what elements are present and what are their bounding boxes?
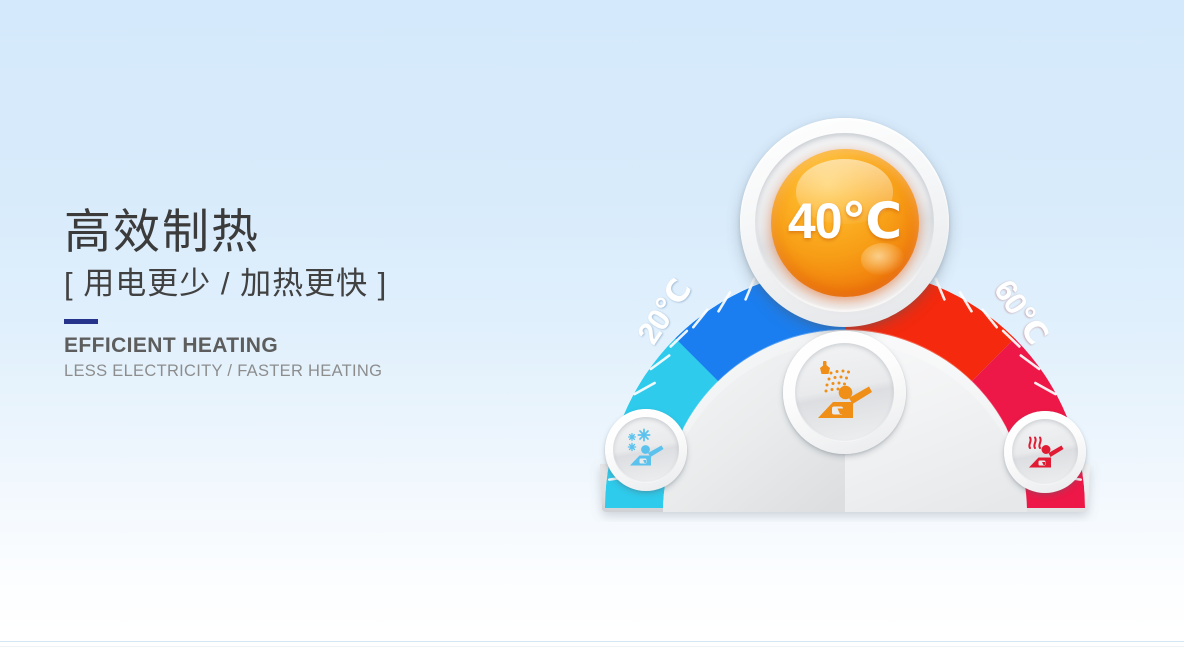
promo-banner: 高效制热 [ 用电更少 / 加热更快 ] EFFICIENT HEATING L… (0, 0, 1184, 652)
headline-english: EFFICIENT HEATING (64, 334, 534, 359)
mode-badge-cold[interactable] (605, 409, 687, 491)
temperature-gauge: 20℃ 60℃ 40℃ (588, 112, 1120, 522)
temperature-value: 40℃ (788, 196, 901, 246)
temperature-orb: 40℃ (771, 149, 919, 297)
footer-divider-secondary (0, 646, 1184, 647)
accent-divider (64, 319, 98, 324)
mode-badge-hot-inner (1012, 419, 1078, 485)
heatwave-person-icon (1022, 429, 1068, 475)
mode-badge-shower[interactable] (783, 331, 906, 454)
temperature-ring-inner: 40℃ (755, 133, 934, 312)
shower-person-icon (809, 357, 881, 429)
temperature-readout: 40℃ (740, 118, 949, 327)
page-subtitle: [ 用电更少 / 加热更快 ] (64, 265, 534, 302)
copy-block: 高效制热 [ 用电更少 / 加热更快 ] EFFICIENT HEATING L… (64, 206, 534, 381)
subline-english: LESS ELECTRICITY / FASTER HEATING (64, 362, 534, 382)
mode-badge-shower-inner (795, 343, 894, 442)
mode-badge-hot[interactable] (1004, 411, 1086, 493)
mode-badge-cold-inner (613, 417, 679, 483)
footer-divider (0, 641, 1184, 642)
page-title: 高效制热 (64, 206, 534, 259)
snowflake-person-icon (623, 427, 669, 473)
